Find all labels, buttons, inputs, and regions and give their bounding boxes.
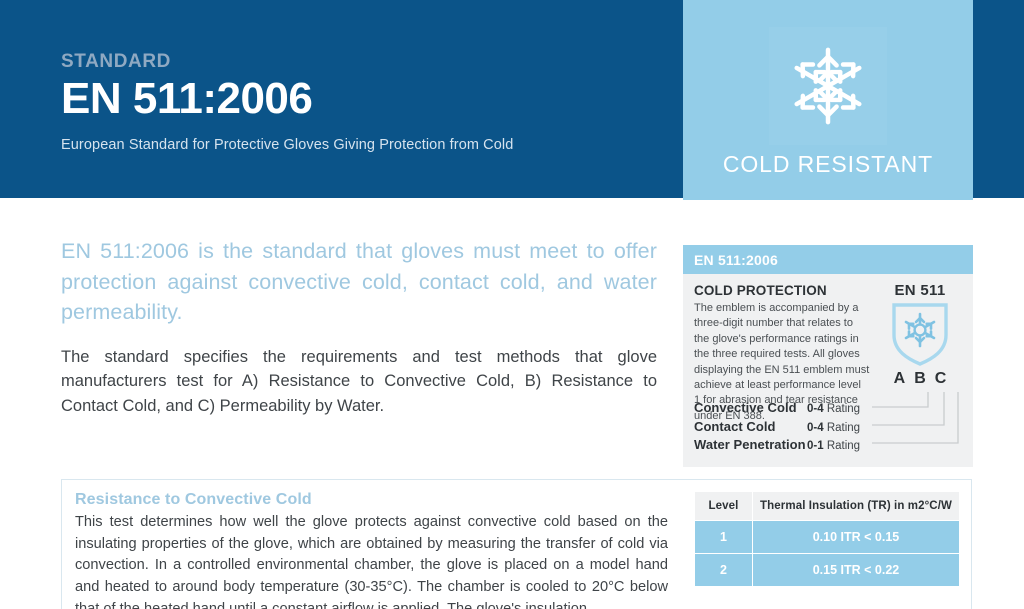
table-cell-level: 1 <box>695 521 753 554</box>
en511-emblem: EN 511 <box>876 282 964 388</box>
panel-title: Resistance to Convective Cold <box>75 491 668 509</box>
table-header-thermal-insulation: Thermal Insulation (TR) in m2°C/W <box>753 492 960 521</box>
emblem-letter-c: C <box>935 370 947 388</box>
emblem-letter-b: B <box>914 370 926 388</box>
intro-lead-paragraph: EN 511:2006 is the standard that gloves … <box>61 236 657 328</box>
standard-eyebrow-label: STANDARD <box>61 52 661 73</box>
info-card-header: EN 511:2006 <box>683 245 973 274</box>
table-row: 1 0.10 ITR < 0.15 <box>695 521 960 554</box>
info-card-body: COLD PROTECTION The emblem is accompanie… <box>683 274 973 467</box>
rating-row: Water Penetration 0-1 Rating <box>694 437 894 456</box>
emblem-letter-a: A <box>894 370 906 388</box>
table-header-row: Level Thermal Insulation (TR) in m2°C/W <box>695 492 960 521</box>
rating-unit: Rating <box>827 403 860 415</box>
page-subtitle: European Standard for Protective Gloves … <box>61 137 661 153</box>
table-cell-value: 0.15 ITR < 0.22 <box>753 554 960 587</box>
table-cell-level: 2 <box>695 554 753 587</box>
convective-cold-panel: Resistance to Convective Cold This test … <box>61 479 972 609</box>
badge-label: COLD RESISTANT <box>723 151 933 178</box>
rating-name: Convective Cold <box>694 400 807 415</box>
page-title: EN 511:2006 <box>61 75 661 123</box>
standard-infosheet-page: STANDARD EN 511:2006 European Standard f… <box>0 0 1024 609</box>
rating-unit: Rating <box>827 422 860 434</box>
rating-unit: Rating <box>827 440 860 452</box>
rating-value: 0-1 Rating <box>807 440 860 452</box>
rating-value: 0-4 Rating <box>807 422 860 434</box>
panel-text-block: Resistance to Convective Cold This test … <box>75 491 668 609</box>
emblem-rating-letters: A B C <box>876 370 964 388</box>
intro-section: EN 511:2006 is the standard that gloves … <box>61 236 657 419</box>
info-card-header-label: EN 511:2006 <box>694 252 778 268</box>
page-header: STANDARD EN 511:2006 European Standard f… <box>0 0 1024 198</box>
rating-range: 0-4 <box>807 403 824 415</box>
table-row: 2 0.15 ITR < 0.22 <box>695 554 960 587</box>
rating-value: 0-4 Rating <box>807 403 860 415</box>
rating-row: Contact Cold 0-4 Rating <box>694 419 894 438</box>
rating-range: 0-1 <box>807 440 824 452</box>
rating-list: Convective Cold 0-4 Rating Contact Cold … <box>694 400 894 456</box>
rating-name: Contact Cold <box>694 419 807 434</box>
intro-body-paragraph: The standard specifies the requirements … <box>61 345 657 419</box>
thermal-insulation-table: Level Thermal Insulation (TR) in m2°C/W … <box>694 491 960 587</box>
table-cell-value: 0.10 ITR < 0.15 <box>753 521 960 554</box>
cold-resistant-badge: COLD RESISTANT <box>683 0 973 200</box>
en511-info-card: EN 511:2006 COLD PROTECTION The emblem i… <box>683 245 973 467</box>
rating-name: Water Penetration <box>694 437 807 452</box>
snowflake-icon <box>769 27 887 145</box>
header-title-block: STANDARD EN 511:2006 European Standard f… <box>61 52 661 153</box>
table-header-level: Level <box>695 492 753 521</box>
panel-body-text: This test determines how well the glove … <box>75 512 668 609</box>
rating-row: Convective Cold 0-4 Rating <box>694 400 894 419</box>
shield-snowflake-icon <box>876 301 964 367</box>
rating-range: 0-4 <box>807 422 824 434</box>
emblem-title: EN 511 <box>876 282 964 299</box>
